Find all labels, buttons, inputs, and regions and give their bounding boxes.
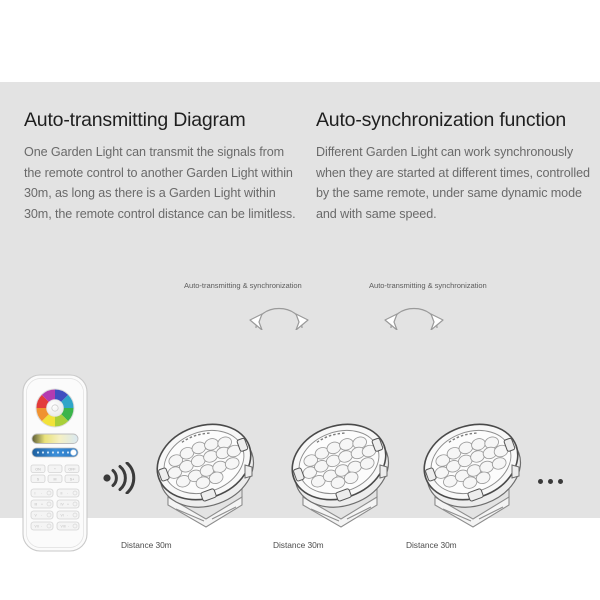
garden-light-fixture-icon: [281, 409, 397, 535]
rf-signal-waves-icon: [103, 462, 137, 494]
distance-label-third: Distance 30m: [406, 540, 457, 550]
svg-text:II: II: [61, 492, 63, 496]
arc-label-second: Auto-transmitting & synchronization: [369, 281, 487, 290]
arc-label-first: Auto-transmitting & synchronization: [184, 281, 302, 290]
svg-text:-: -: [67, 492, 68, 496]
ellipsis-dot: [538, 479, 543, 484]
left-text-column: Auto-transmitting Diagram One Garden Lig…: [24, 110, 300, 224]
svg-text:-: -: [41, 514, 42, 518]
svg-text:-: -: [68, 525, 69, 529]
ellipsis-dot: [548, 479, 553, 484]
right-column-body: Different Garden Light can work synchron…: [316, 142, 592, 224]
ellipsis-dots-icon: [538, 479, 563, 484]
rgb-remote-control-icon[interactable]: ON * OFF S M S+: [22, 374, 88, 552]
svg-text:-: -: [67, 514, 68, 518]
svg-text:+: +: [41, 503, 43, 507]
svg-text:VI: VI: [61, 514, 64, 518]
diagram-illustration: Auto-transmitting & synchronization Auto…: [0, 277, 600, 518]
left-column-body: One Garden Light can transmit the signal…: [24, 142, 300, 224]
distance-label-second: Distance 30m: [273, 540, 324, 550]
svg-text:-: -: [41, 525, 42, 529]
svg-text:VII: VII: [35, 525, 39, 529]
svg-text:VIII: VIII: [61, 525, 66, 529]
garden-light-fixture-icon: [413, 409, 529, 535]
svg-text:III: III: [35, 503, 38, 507]
right-text-column: Auto-synchronization function Different …: [316, 110, 592, 224]
ellipsis-dot: [558, 479, 563, 484]
svg-text:+: +: [67, 503, 69, 507]
curved-double-arrow-icon: [381, 294, 447, 330]
svg-text:OFF: OFF: [68, 467, 76, 471]
right-column-heading: Auto-synchronization function: [316, 110, 592, 131]
svg-text:S+: S+: [70, 477, 75, 481]
page-root: Auto-transmitting Diagram One Garden Lig…: [0, 0, 600, 600]
garden-light-fixture-icon: [146, 409, 262, 535]
curved-double-arrow-icon: [246, 294, 312, 330]
diagram-panel: Auto-transmitting Diagram One Garden Lig…: [0, 82, 600, 518]
svg-text:I: I: [35, 492, 36, 496]
svg-text:M: M: [54, 477, 57, 481]
left-column-heading: Auto-transmitting Diagram: [24, 110, 300, 131]
svg-text:ON: ON: [35, 467, 41, 471]
distance-label-first: Distance 30m: [121, 540, 172, 550]
svg-text:-: -: [41, 492, 42, 496]
